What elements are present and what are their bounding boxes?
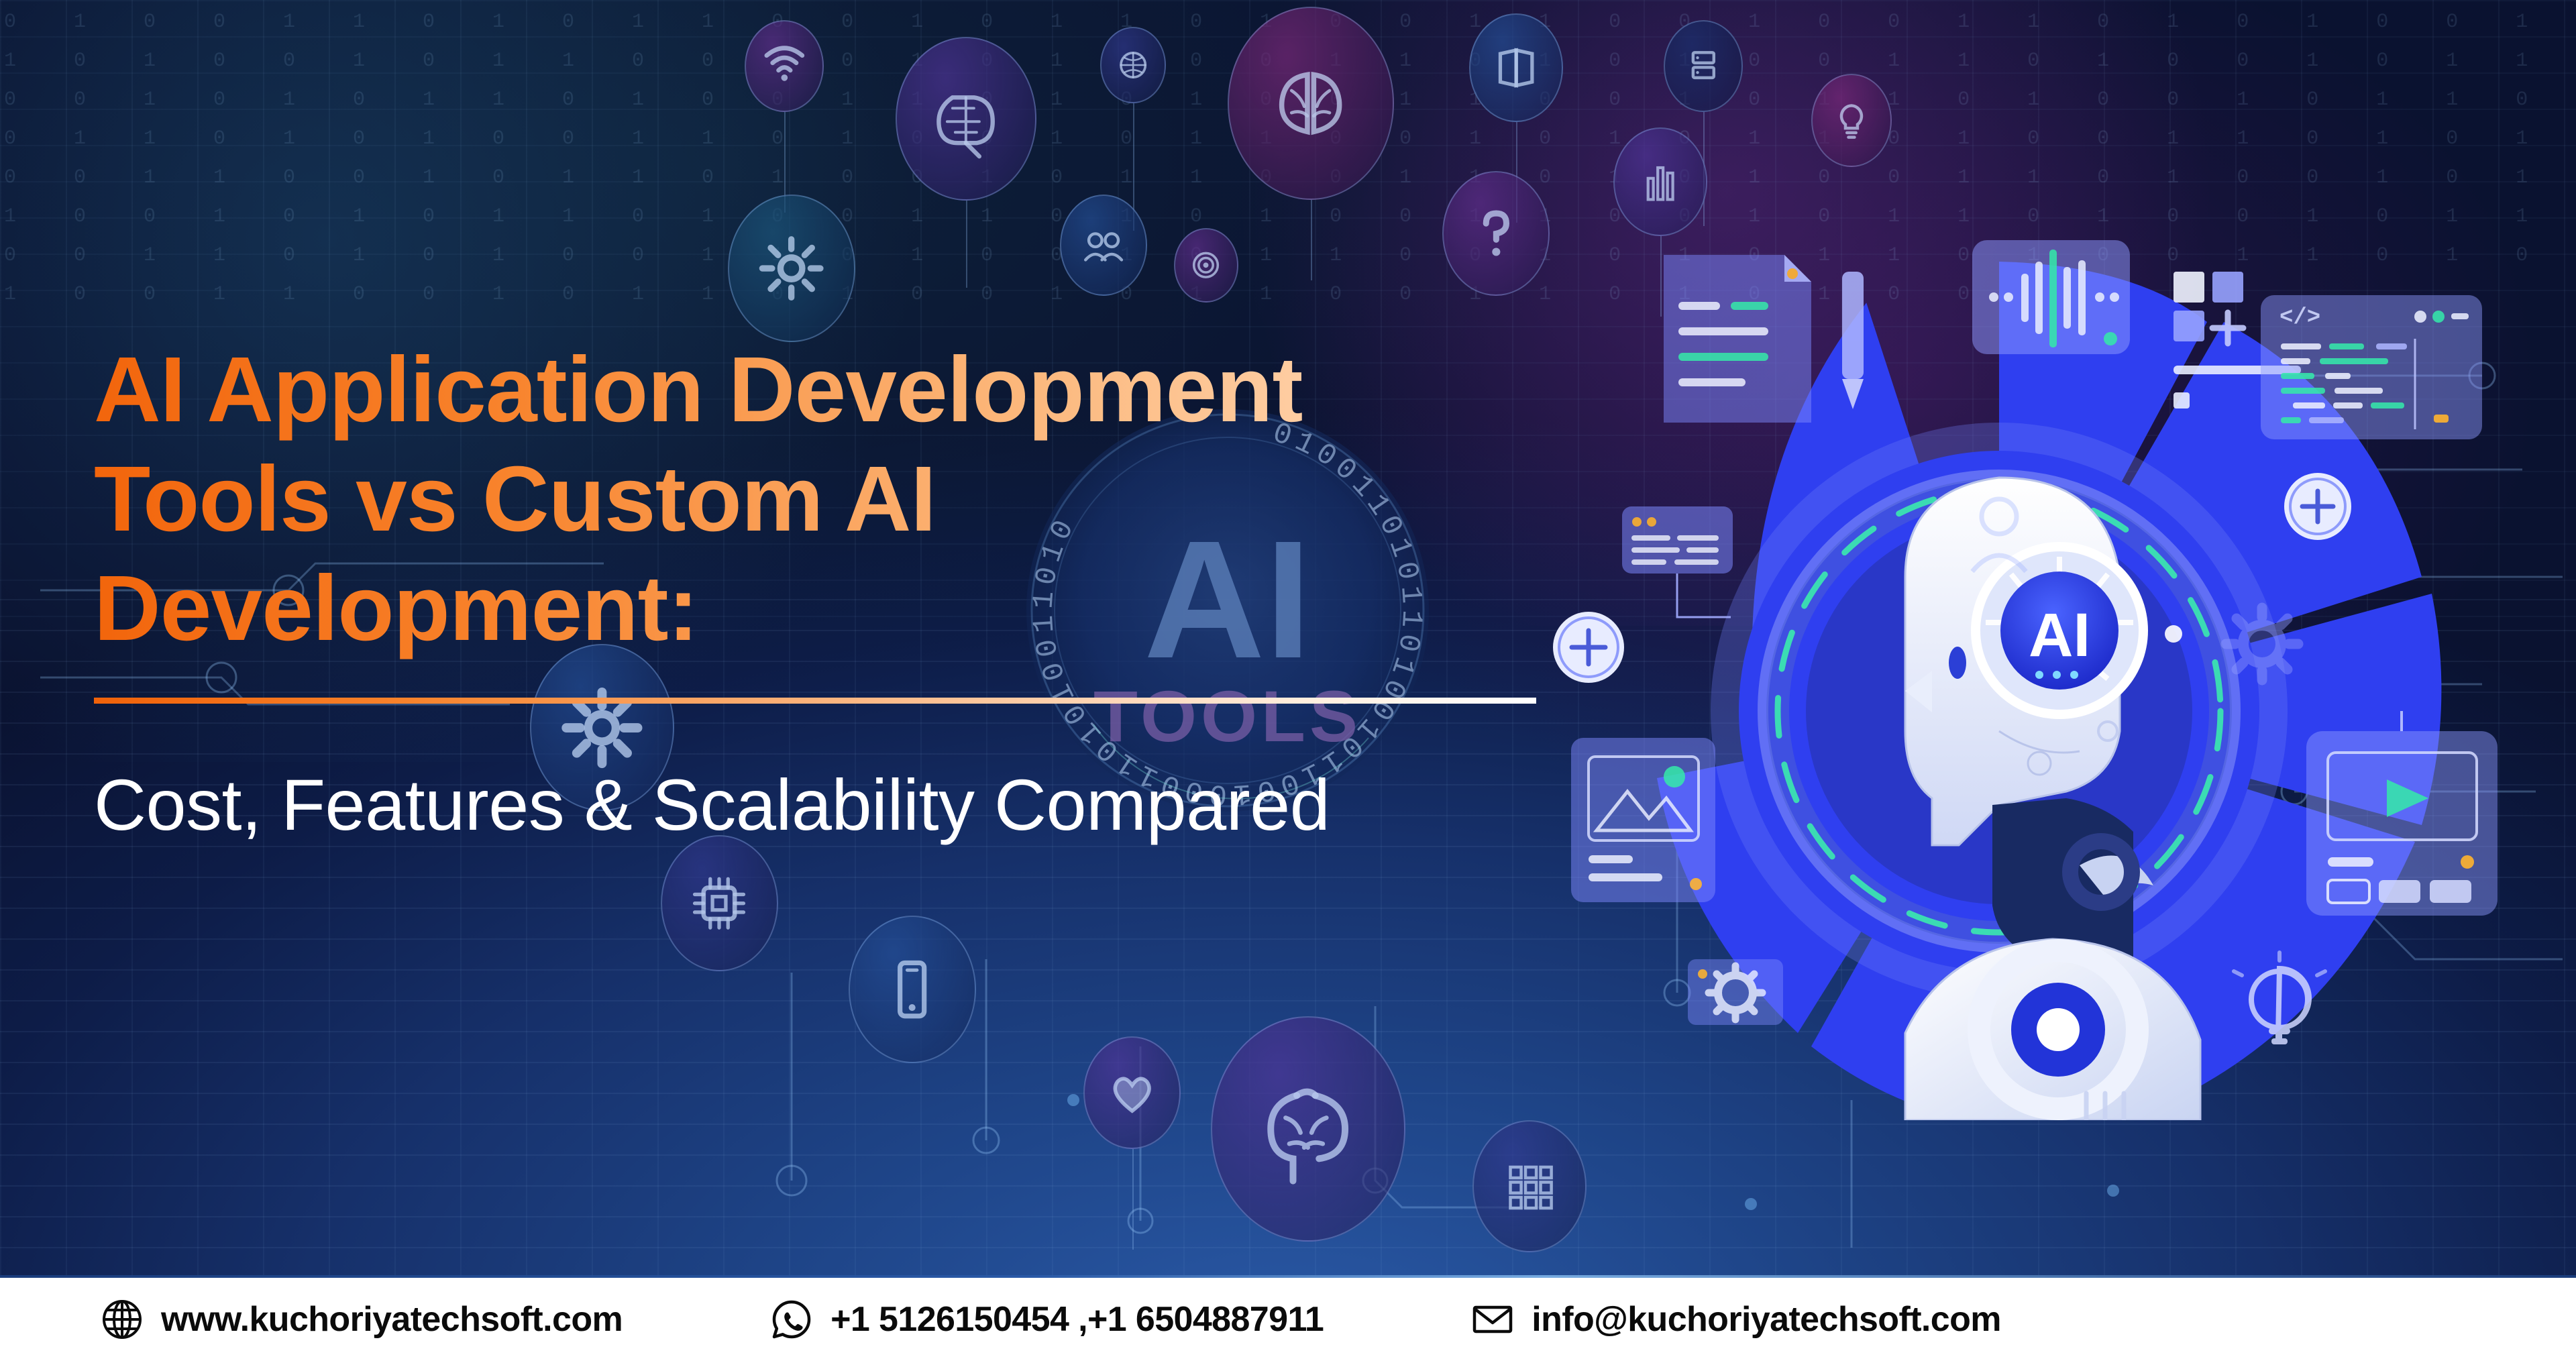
page-title: AI Application Development Tools vs Cust… xyxy=(94,335,1556,663)
plus-circle-right-icon xyxy=(2284,473,2351,540)
footer-website-link[interactable]: www.kuchoriyatechsoft.com xyxy=(101,1298,623,1341)
wifi-icon-bubble xyxy=(745,20,824,112)
bubble-stem xyxy=(966,201,967,288)
footer-website-text: www.kuchoriyatechsoft.com xyxy=(161,1299,623,1340)
headline-block: AI Application Development Tools vs Cust… xyxy=(94,335,1556,847)
data-grid-icon-bubble xyxy=(1472,1120,1587,1252)
gear-card xyxy=(1688,959,1783,1025)
split-brain-icon-bubble xyxy=(1228,7,1394,200)
document-card xyxy=(1664,255,1811,423)
cpu-chip-icon-bubble xyxy=(661,835,778,971)
envelope-icon xyxy=(1471,1298,1514,1341)
bubble-stem xyxy=(1132,1149,1134,1250)
footer-divider xyxy=(0,1275,2576,1278)
page-subtitle: Cost, Features & Scalability Compared xyxy=(94,763,1556,847)
globe-icon xyxy=(101,1298,144,1341)
gear-icon-bubble xyxy=(728,195,855,342)
robot-ai-badge-label: AI xyxy=(2029,601,2090,669)
whatsapp-icon xyxy=(770,1298,813,1341)
image-card xyxy=(1571,738,1715,902)
heart-icon-bubble xyxy=(1083,1036,1181,1149)
plus-circle-icon xyxy=(1553,612,1624,683)
chat-bubble-card xyxy=(1622,506,1733,617)
lightbulb-icon-bubble xyxy=(1811,74,1892,167)
contact-footer: www.kuchoriyatechsoft.com +1 5126150454 … xyxy=(0,1278,2576,1361)
code-window-card: </> xyxy=(2261,295,2482,439)
footer-phone-text: +1 5126150454 ,+1 6504887911 xyxy=(830,1299,1324,1340)
svg-text:</>: </> xyxy=(2279,305,2320,331)
book-icon-bubble xyxy=(1469,13,1563,122)
audio-waveform-card xyxy=(1972,240,2130,354)
footer-email-link[interactable]: info@kuchoriyatechsoft.com xyxy=(1471,1298,2001,1341)
ai-tools-marketing-banner: 0 1 0 0 1 1 0 1 0 1 1 0 0 1 0 1 1 0 1 0 … xyxy=(0,0,2576,1361)
server-icon-bubble xyxy=(1664,20,1743,112)
footer-phone-link[interactable]: +1 5126150454 ,+1 6504887911 xyxy=(770,1298,1324,1341)
video-player-card xyxy=(2306,711,2498,916)
globe-grid-icon-bubble xyxy=(1100,27,1166,103)
mobile-phone-icon-bubble xyxy=(849,916,976,1063)
footer-email-text: info@kuchoriyatechsoft.com xyxy=(1532,1299,2001,1340)
target-icon-bubble xyxy=(1174,228,1238,303)
neural-brain-icon-bubble xyxy=(896,37,1036,201)
collaboration-icon-bubble xyxy=(1060,195,1147,296)
ai-robot-illustration: AI xyxy=(1529,201,2576,1120)
title-divider xyxy=(94,698,1536,704)
brain-anatomy-icon-bubble xyxy=(1211,1016,1405,1242)
bubble-stem xyxy=(1311,200,1312,280)
